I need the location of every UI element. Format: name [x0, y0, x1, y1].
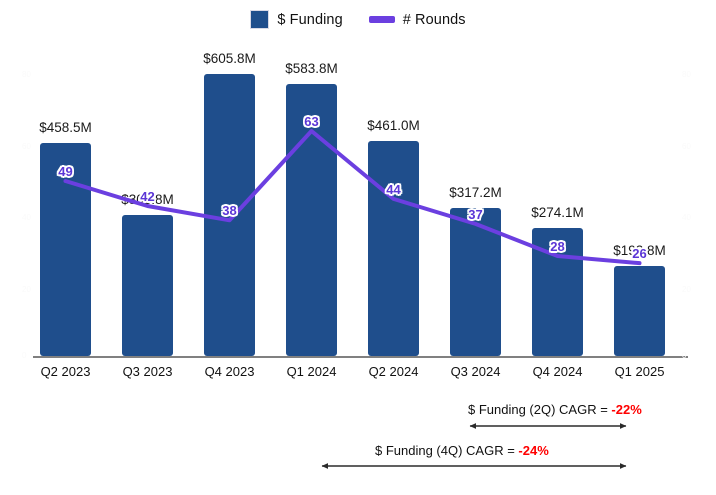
- chart-canvas: $ Funding # Rounds $458.5M$303.8M$605.8M…: [0, 0, 716, 495]
- cagr-4q-text: $ Funding (4Q) CAGR = -24%: [375, 443, 549, 458]
- cagr-4q-value: -24%: [518, 443, 548, 458]
- cagr-4q-prefix: $ Funding (4Q) CAGR =: [375, 443, 518, 458]
- cagr-arrow-layer: [0, 0, 716, 495]
